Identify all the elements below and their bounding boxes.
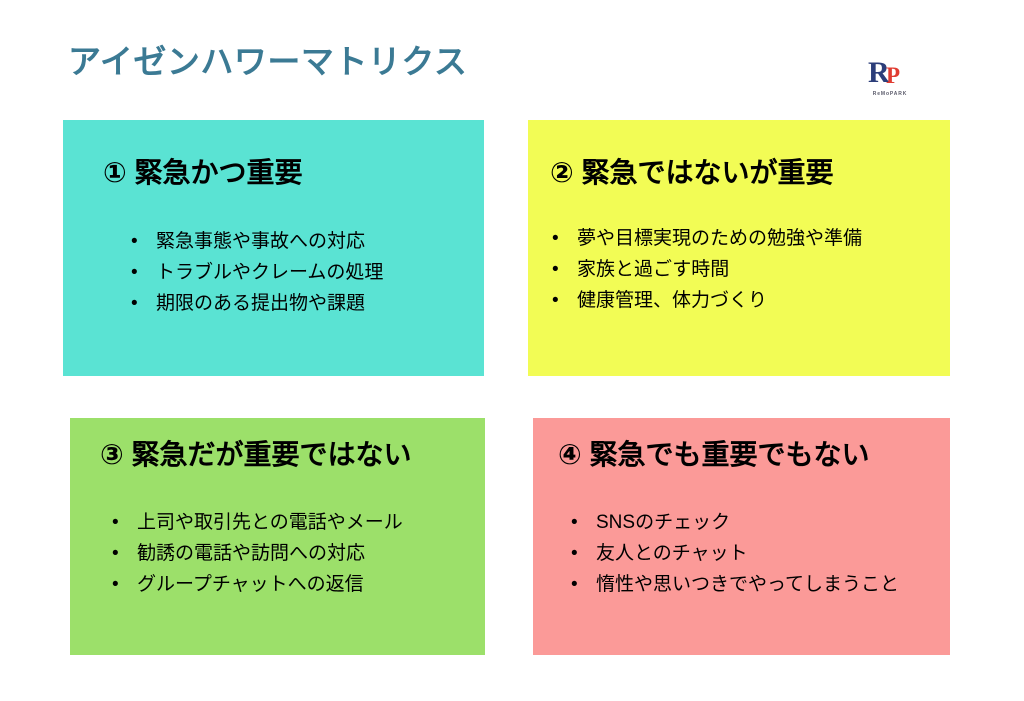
bullet-icon: • <box>131 257 156 288</box>
list-item: •トラブルやクレームの処理 <box>131 257 383 288</box>
quadrant-heading: ② 緊急ではないが重要 <box>528 156 950 190</box>
bullet-icon: • <box>112 507 137 538</box>
list-item-label: 上司や取引先との電話やメール <box>137 512 403 533</box>
list-item-label: 健康管理、体力づくり <box>577 290 767 311</box>
quadrant-urgent-important: ① 緊急かつ重要 •緊急事態や事故への対応•トラブルやクレームの処理•期限のある… <box>63 120 484 376</box>
list-item: •勧誘の電話や訪問への対応 <box>112 538 403 569</box>
bullet-icon: • <box>571 507 596 538</box>
bullet-icon: • <box>552 254 577 285</box>
quadrant-item-list: •緊急事態や事故への対応•トラブルやクレームの処理•期限のある提出物や課題 <box>131 226 383 319</box>
list-item: •家族と過ごす時間 <box>552 254 862 285</box>
quadrant-not-urgent-important: ② 緊急ではないが重要 •夢や目標実現のための勉強や準備•家族と過ごす時間•健康… <box>528 120 950 376</box>
logo-mark: R P ReMoPARK <box>861 58 917 92</box>
list-item-label: 惰性や思いつきでやってしまうこと <box>596 574 899 595</box>
list-item: •緊急事態や事故への対応 <box>131 226 383 257</box>
quadrant-urgent-not-important: ③ 緊急だが重要ではない •上司や取引先との電話やメール•勧誘の電話や訪問への対… <box>70 418 485 655</box>
list-item: •健康管理、体力づくり <box>552 285 862 316</box>
list-item-label: 友人とのチャット <box>596 543 748 564</box>
list-item-label: 緊急事態や事故への対応 <box>156 231 365 252</box>
quadrant-heading: ① 緊急かつ重要 <box>63 156 484 190</box>
list-item: •友人とのチャット <box>571 538 899 569</box>
bullet-icon: • <box>112 569 137 600</box>
bullet-icon: • <box>571 569 596 600</box>
quadrant-heading: ③ 緊急だが重要ではない <box>70 438 485 472</box>
bullet-icon: • <box>571 538 596 569</box>
list-item-label: トラブルやクレームの処理 <box>156 262 383 283</box>
list-item-label: 勧誘の電話や訪問への対応 <box>137 543 365 564</box>
list-item: •夢や目標実現のための勉強や準備 <box>552 223 862 254</box>
list-item: •期限のある提出物や課題 <box>131 288 383 319</box>
quadrant-not-urgent-not-important: ④ 緊急でも重要でもない •SNSのチェック•友人とのチャット•惰性や思いつきで… <box>533 418 950 655</box>
list-item: •上司や取引先との電話やメール <box>112 507 403 538</box>
bullet-icon: • <box>552 285 577 316</box>
list-item-label: 家族と過ごす時間 <box>577 259 729 280</box>
bullet-icon: • <box>131 226 156 257</box>
eisenhower-matrix-slide: アイゼンハワーマトリクス R P ReMoPARK ① 緊急かつ重要 •緊急事態… <box>0 0 1024 701</box>
quadrant-item-list: •SNSのチェック•友人とのチャット•惰性や思いつきでやってしまうこと <box>571 507 899 600</box>
list-item-label: SNSのチェック <box>596 512 730 533</box>
bullet-icon: • <box>112 538 137 569</box>
quadrant-item-list: •上司や取引先との電話やメール•勧誘の電話や訪問への対応•グループチャットへの返… <box>112 507 403 600</box>
list-item: •惰性や思いつきでやってしまうこと <box>571 569 899 600</box>
logo-letter-p: P <box>886 64 900 87</box>
brand-logo: R P ReMoPARK <box>861 58 917 104</box>
list-item: •SNSのチェック <box>571 507 899 538</box>
quadrant-heading: ④ 緊急でも重要でもない <box>533 438 950 472</box>
bullet-icon: • <box>131 288 156 319</box>
bullet-icon: • <box>552 223 577 254</box>
list-item-label: 期限のある提出物や課題 <box>156 293 365 314</box>
list-item-label: グループチャットへの返信 <box>137 574 364 595</box>
list-item: •グループチャットへの返信 <box>112 569 403 600</box>
logo-subtitle: ReMoPARK <box>863 91 917 97</box>
page-title: アイゼンハワーマトリクス <box>68 42 467 82</box>
quadrant-item-list: •夢や目標実現のための勉強や準備•家族と過ごす時間•健康管理、体力づくり <box>552 223 862 316</box>
list-item-label: 夢や目標実現のための勉強や準備 <box>577 228 862 249</box>
